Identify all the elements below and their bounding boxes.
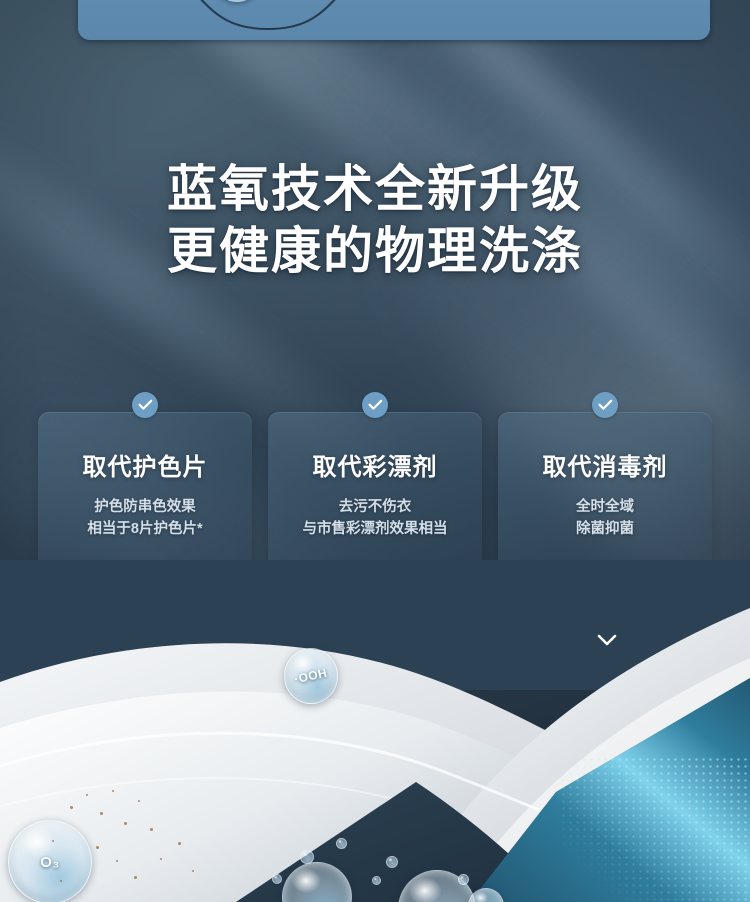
dirt-speck bbox=[86, 794, 88, 796]
dirt-speck bbox=[96, 846, 99, 849]
feature-card-subtitle-line-1: 去污不伤衣 bbox=[268, 496, 482, 518]
decorative-bubble-small bbox=[336, 838, 347, 849]
decorative-bubble-small bbox=[386, 856, 398, 868]
decorative-bubble-small bbox=[458, 874, 469, 885]
dirt-speck bbox=[112, 790, 114, 792]
check-circle-icon bbox=[132, 392, 158, 418]
dirt-speck bbox=[60, 880, 62, 882]
feature-card-subtitle: 去污不伤衣 与市售彩漂剂效果相当 bbox=[268, 496, 482, 540]
panel-expand-button[interactable] bbox=[208, 0, 266, 2]
hydroxyl-bubble-label: ·OOH bbox=[293, 666, 329, 687]
check-circle-icon bbox=[592, 392, 618, 418]
dirt-speck bbox=[134, 876, 137, 879]
dirt-speck bbox=[116, 860, 118, 862]
feature-card[interactable]: 取代消毒剂 全时全域 除菌抑菌 bbox=[498, 412, 712, 576]
dirt-speck bbox=[160, 858, 162, 860]
ozone-bubble-label: O₃ bbox=[40, 854, 60, 871]
product-feature-page: 蓝氧技术全新升级 更健康的物理洗涤 取代护色片 护色防串色效果 相当于8片护色片… bbox=[0, 0, 750, 902]
dirt-speck bbox=[150, 828, 153, 831]
feature-card-subtitle-line-2: 相当于8片护色片* bbox=[38, 518, 252, 540]
feature-card-title: 取代彩漂剂 bbox=[268, 454, 482, 482]
headline-line-2: 更健康的物理洗涤 bbox=[0, 220, 750, 282]
check-circle-icon bbox=[362, 392, 388, 418]
dirt-speck bbox=[70, 806, 73, 809]
dirt-speck bbox=[124, 822, 127, 825]
feature-card-subtitle: 全时全域 除菌抑菌 bbox=[498, 496, 712, 540]
dirt-speck bbox=[100, 812, 103, 815]
feature-card-subtitle-line-2: 除菌抑菌 bbox=[498, 518, 712, 540]
feature-card-list: 取代护色片 护色防串色效果 相当于8片护色片* 取代彩漂剂 去污不伤衣 与市售彩… bbox=[38, 412, 712, 576]
hydroxyl-bubble: ·OOH bbox=[284, 648, 338, 704]
dirt-speck bbox=[178, 842, 181, 845]
feature-card-subtitle: 护色防串色效果 相当于8片护色片* bbox=[38, 496, 252, 540]
chevron-down-icon bbox=[596, 632, 618, 648]
feature-card-title: 取代消毒剂 bbox=[498, 454, 712, 482]
top-blue-panel[interactable] bbox=[78, 0, 710, 40]
fabric-wave-illustration bbox=[0, 560, 750, 902]
dirt-speck bbox=[52, 840, 54, 842]
panel-wave-edge bbox=[138, 0, 398, 30]
decorative-bubble-small bbox=[300, 850, 314, 864]
dirt-speck bbox=[192, 870, 194, 872]
dirt-speck bbox=[138, 800, 140, 802]
feature-card-subtitle-line-2: 与市售彩漂剂效果相当 bbox=[268, 518, 482, 540]
feature-card[interactable]: 取代护色片 护色防串色效果 相当于8片护色片* bbox=[38, 412, 252, 576]
feature-card-title: 取代护色片 bbox=[38, 454, 252, 482]
decorative-bubble-small bbox=[272, 874, 282, 884]
decorative-bubble-small bbox=[372, 876, 381, 885]
page-title: 蓝氧技术全新升级 更健康的物理洗涤 bbox=[0, 158, 750, 282]
feature-card[interactable]: 取代彩漂剂 去污不伤衣 与市售彩漂剂效果相当 bbox=[268, 412, 482, 576]
scroll-down-hint[interactable] bbox=[596, 632, 618, 648]
feature-card-subtitle-line-1: 护色防串色效果 bbox=[38, 496, 252, 518]
feature-card-subtitle-line-1: 全时全域 bbox=[498, 496, 712, 518]
ozone-bubble: O₃ bbox=[8, 820, 92, 902]
headline-line-1: 蓝氧技术全新升级 bbox=[0, 158, 750, 220]
